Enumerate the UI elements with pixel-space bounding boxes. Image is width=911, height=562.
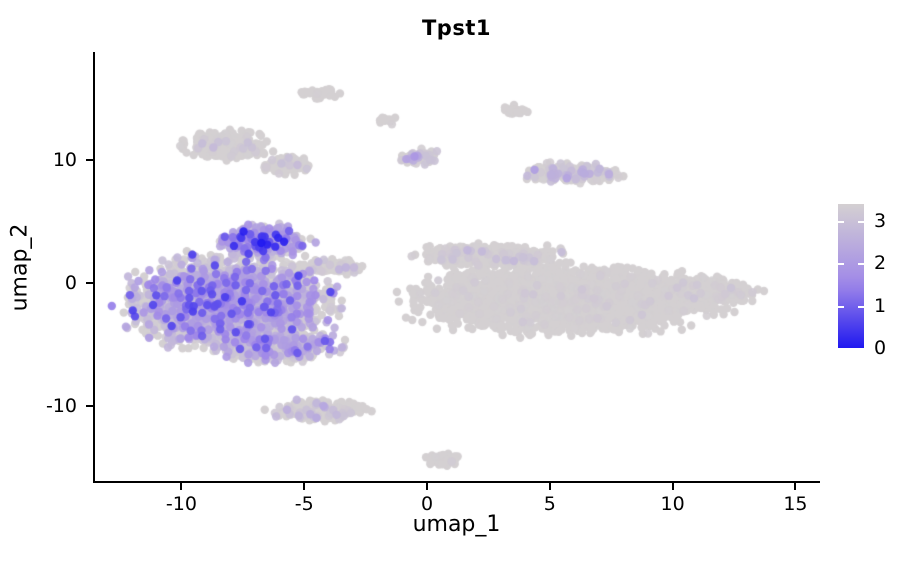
y-tick-mark	[86, 282, 93, 284]
x-tick-mark	[426, 483, 428, 490]
y-axis-label: umap_2	[6, 52, 34, 483]
x-tick-mark	[549, 483, 551, 490]
y-tick-mark	[86, 159, 93, 161]
plot-axes: -10-5051015100-10	[93, 52, 820, 483]
x-tick-mark	[672, 483, 674, 490]
colorbar	[838, 204, 864, 348]
x-axis-spine	[93, 481, 820, 483]
y-tick-label: -10	[46, 395, 77, 417]
colorbar-tick-label: 2	[874, 252, 886, 274]
colorbar-tick-label: 1	[874, 295, 886, 317]
colorbar-gradient	[838, 204, 864, 348]
scatter-canvas	[93, 52, 820, 483]
y-tick-mark	[86, 405, 93, 407]
y-axis-spine	[93, 52, 95, 483]
y-tick-label: 0	[65, 272, 77, 294]
chart-title-container: Tpst1	[93, 16, 820, 40]
scatter-plot-area	[93, 52, 820, 483]
x-tick-mark	[794, 483, 796, 490]
colorbar-tick-mark	[838, 348, 864, 350]
x-tick-mark	[180, 483, 182, 490]
x-tick-mark	[303, 483, 305, 490]
y-tick-label: 10	[53, 149, 77, 171]
y-axis-label-text: umap_2	[8, 224, 33, 312]
colorbar-tick-label: 3	[874, 210, 886, 232]
x-axis-label: umap_1	[93, 512, 820, 537]
colorbar-tick-label: 0	[874, 337, 886, 359]
page-title: Tpst1	[93, 16, 820, 40]
